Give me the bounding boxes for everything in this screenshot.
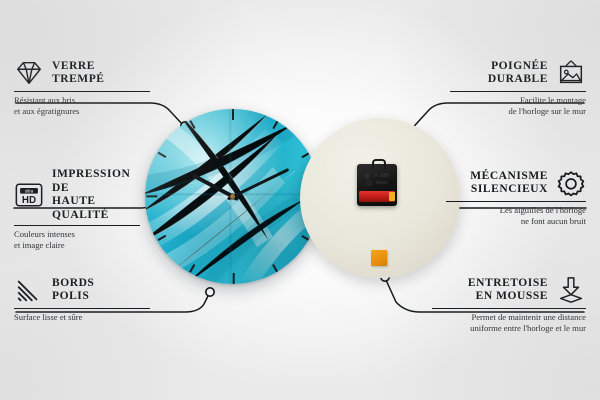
feature-mecanisme-silencieux: MÉCANISME SILENCIEUX Les aiguilles de l'… xyxy=(446,168,586,227)
gear-icon xyxy=(556,168,586,198)
feature-poignee-durable: POIGNÉE DURABLE Facilite le montage de l… xyxy=(450,58,586,117)
svg-text:ultra: ultra xyxy=(25,189,34,194)
clock-back-side xyxy=(300,118,460,278)
feature-description: Facilite le montage de l'horloge sur le … xyxy=(450,95,586,116)
diamond-icon xyxy=(14,58,44,88)
divider xyxy=(450,91,586,92)
divider xyxy=(14,225,140,226)
feature-verre-trempe: VERRE TREMPÉ Résistant aux bris et aux é… xyxy=(14,58,150,117)
svg-text:HD: HD xyxy=(22,195,36,206)
feature-impression-haute-qualite: ultra HD IMPRESSION DE HAUTE QUALITÉ Cou… xyxy=(14,168,140,251)
feature-title: POIGNÉE DURABLE xyxy=(488,60,548,87)
feature-title: MÉCANISME SILENCIEUX xyxy=(470,170,548,197)
picture-hanger-icon xyxy=(556,58,586,88)
feature-title: ENTRETOISE EN MOUSSE xyxy=(468,277,548,304)
feature-description: Les aiguilles de l'horloge ne font aucun… xyxy=(446,205,586,226)
foam-spacer xyxy=(371,250,387,266)
battery xyxy=(359,191,395,202)
clock-front-face xyxy=(145,109,320,284)
connector-dot-bords-polis xyxy=(206,288,214,296)
feature-description: Couleurs intenses et image claire xyxy=(14,229,140,250)
foam-spacer-arrow-icon xyxy=(556,275,586,305)
glass-gloss-overlay xyxy=(145,109,320,284)
feature-bords-polis: BORDS POLIS Surface lisse et sûre xyxy=(14,275,150,323)
divider xyxy=(446,201,586,202)
divider xyxy=(14,91,150,92)
feature-description: Permet de maintenir une distance uniform… xyxy=(432,312,586,333)
feature-entretoise-en-mousse: ENTRETOISE EN MOUSSE Permet de maintenir… xyxy=(432,275,586,334)
divider xyxy=(432,308,586,309)
diagonal-lines-icon xyxy=(14,275,44,305)
feature-description: Surface lisse et sûre xyxy=(14,312,150,323)
hanger-loop-icon xyxy=(372,159,386,169)
feature-title: IMPRESSION DE HAUTE QUALITÉ xyxy=(52,168,140,222)
divider xyxy=(14,308,150,309)
mechanism-detail xyxy=(362,172,392,188)
ultra-hd-badge-icon: ultra HD xyxy=(14,180,44,210)
feature-title: VERRE TREMPÉ xyxy=(52,60,105,87)
clock-mechanism xyxy=(357,164,397,206)
feature-title: BORDS POLIS xyxy=(52,277,94,304)
infographic-canvas: VERRE TREMPÉ Résistant aux bris et aux é… xyxy=(0,0,600,400)
feature-description: Résistant aux bris et aux égratignures xyxy=(14,95,150,116)
